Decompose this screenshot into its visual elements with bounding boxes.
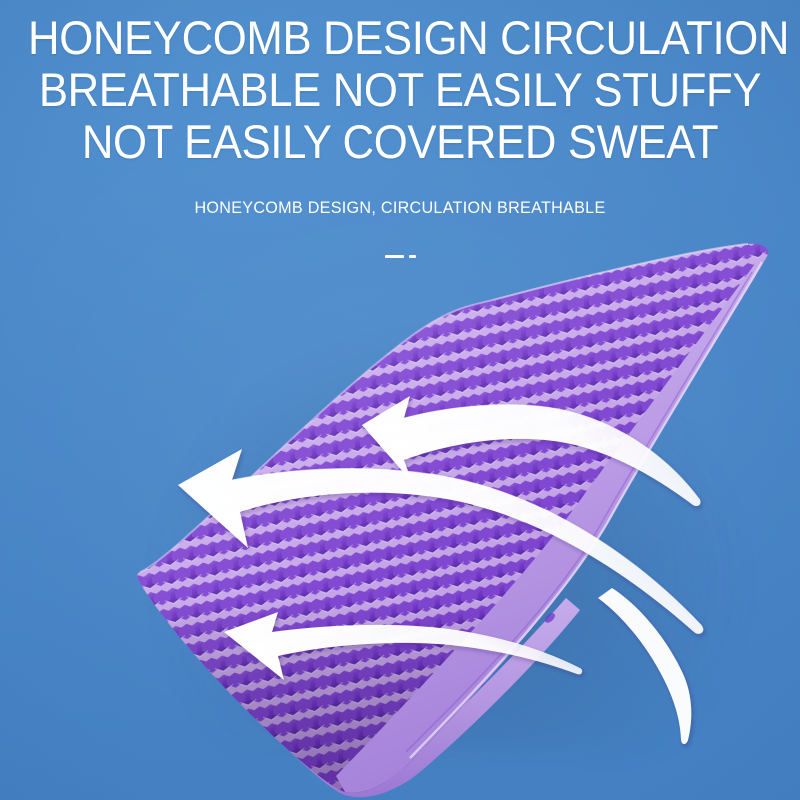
- product-banner: HONEYCOMB DESIGN CIRCULATION BREATHABLE …: [0, 0, 800, 800]
- divider-dash-short: [409, 255, 416, 258]
- subtitle-text: HONEYCOMB DESIGN, CIRCULATION BREATHABLE: [20, 198, 780, 218]
- divider-dash-long: [385, 255, 404, 258]
- divider: [0, 255, 800, 258]
- product-cushion-image: [0, 0, 800, 800]
